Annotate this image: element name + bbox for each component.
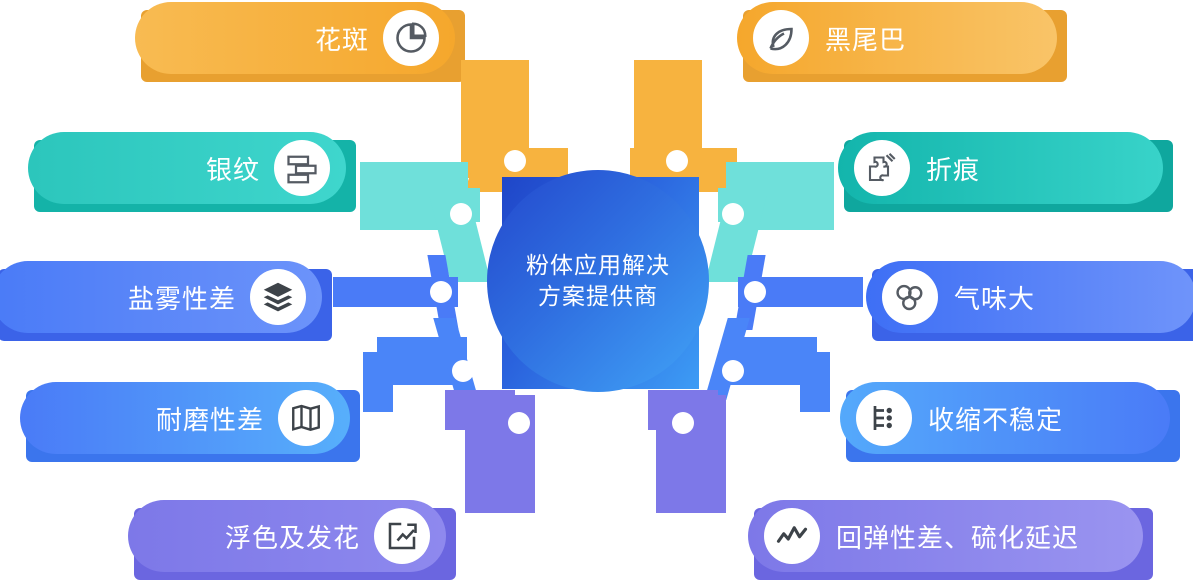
node-label: 浮色及发花 — [225, 518, 360, 555]
node-label: 花斑 — [315, 20, 369, 57]
connector-dot — [452, 360, 474, 382]
brick-wall-icon — [274, 140, 330, 196]
connector-dot — [504, 150, 526, 172]
recycle-icon — [882, 269, 938, 325]
node-card-hei-wei-ba[interactable]: 黑尾巴 — [737, 2, 1057, 74]
leaf-icon — [753, 10, 809, 66]
sitemap-icon — [856, 390, 912, 446]
node-card-yan-wu-xing-cha[interactable]: 盐雾性差 — [0, 261, 322, 333]
node-label: 折痕 — [926, 150, 980, 187]
node-label: 黑尾巴 — [825, 20, 906, 57]
node-card-nai-mo-xing-cha[interactable]: 耐磨性差 — [20, 382, 350, 454]
node-label: 回弹性差、硫化延迟 — [836, 518, 1079, 555]
node-label: 收缩不稳定 — [928, 400, 1063, 437]
node-label: 耐磨性差 — [156, 400, 264, 437]
connector-dot — [672, 412, 694, 434]
puzzle-piece-icon — [854, 140, 910, 196]
line-chart-icon — [764, 508, 820, 564]
center-line-1: 粉体应用解决 — [526, 250, 670, 281]
node-label: 盐雾性差 — [128, 279, 236, 316]
node-card-hui-tan-xing-cha[interactable]: 回弹性差、硫化延迟 — [748, 500, 1143, 572]
center-line-2: 方案提供商 — [526, 281, 670, 312]
connector-dot — [430, 281, 452, 303]
node-card-qi-wei-da[interactable]: 气味大 — [866, 261, 1193, 333]
node-card-yin-wen[interactable]: 银纹 — [28, 132, 346, 204]
node-card-zhe-hen[interactable]: 折痕 — [838, 132, 1163, 204]
pie-chart-icon — [383, 10, 439, 66]
layers-icon — [250, 269, 306, 325]
connector-dot — [744, 281, 766, 303]
connector-dot — [508, 412, 530, 434]
diagram-canvas: 粉体应用解决 方案提供商 花斑 黑尾巴 银纹 — [0, 0, 1193, 577]
connector-dot — [722, 360, 744, 382]
node-card-shou-suo-bu-wen-ding[interactable]: 收缩不稳定 — [840, 382, 1170, 454]
node-card-fu-se-ji-fa-hua[interactable]: 浮色及发花 — [128, 500, 446, 572]
node-label: 银纹 — [206, 150, 260, 187]
connector-dot — [666, 150, 688, 172]
connector-dot — [450, 203, 472, 225]
node-label: 气味大 — [954, 279, 1035, 316]
open-book-icon — [278, 390, 334, 446]
chart-arrow-icon — [374, 508, 430, 564]
node-card-hua-ban[interactable]: 花斑 — [135, 2, 455, 74]
connector-dot — [722, 203, 744, 225]
center-node-label: 粉体应用解决 方案提供商 — [487, 170, 709, 392]
